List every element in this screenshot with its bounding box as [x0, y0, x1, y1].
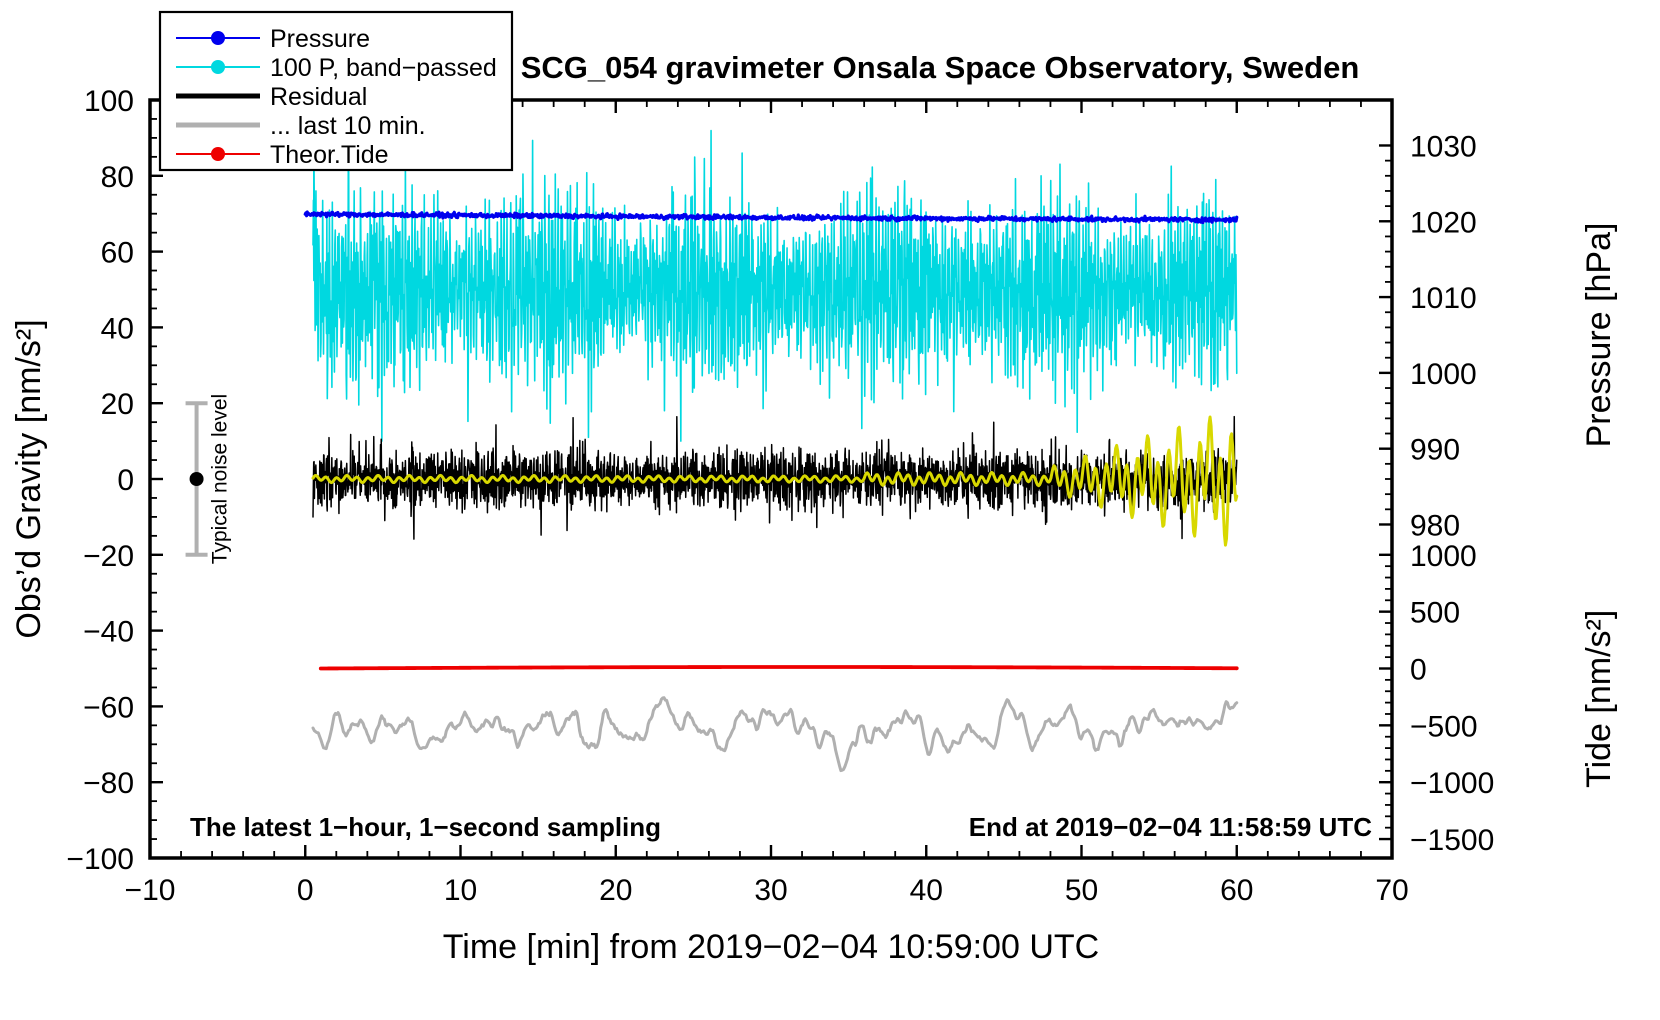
y-left-tick-label: −60 — [83, 691, 134, 724]
y-right-tide-axis-title: Tide [nm/s²] — [1580, 610, 1618, 788]
y-left-tick-label: 80 — [101, 161, 134, 194]
y-left-tick-label: 100 — [84, 85, 134, 118]
legend-item-label: Pressure — [270, 25, 370, 53]
x-axis-tick-label: 40 — [910, 874, 943, 907]
x-axis-tick-label: 20 — [599, 874, 632, 907]
y-left-tick-label: 40 — [101, 312, 134, 345]
y-right-tick-label: −1500 — [1410, 824, 1494, 857]
legend-swatch-marker — [211, 31, 225, 45]
x-axis-tick-label: 70 — [1375, 874, 1408, 907]
legend-item-label: Residual — [270, 83, 367, 111]
y-right-tick-label: 1020 — [1410, 206, 1477, 239]
y-right-tick-label: −500 — [1410, 710, 1478, 743]
y-left-tick-label: −20 — [83, 540, 134, 573]
y-left-tick-label: 0 — [117, 464, 134, 497]
y-right-tick-label: 500 — [1410, 597, 1460, 630]
y-right-tick-label: 1030 — [1410, 130, 1477, 163]
legend-swatch-marker — [211, 147, 225, 161]
x-axis-tick-label: −10 — [125, 874, 176, 907]
x-axis-title: Time [min] from 2019−02−04 10:59:00 UTC — [443, 928, 1099, 966]
y-right-tick-label: 0 — [1410, 654, 1427, 687]
y-right-tick-label: 990 — [1410, 434, 1460, 467]
end-time-note: End at 2019−02−04 11:58:59 UTC — [969, 812, 1372, 842]
y-left-tick-label: −40 — [83, 616, 134, 649]
gravimeter-chart: −10010203040506070100806040200−20−40−60−… — [0, 0, 1660, 1020]
y-right-pressure-axis-title: Pressure [hPa] — [1580, 223, 1618, 448]
y-left-axis-title: Obs’d Gravity [nm/s²] — [10, 319, 48, 638]
y-right-tick-label: 1000 — [1410, 358, 1477, 391]
y-right-tick-label: 1000 — [1410, 540, 1477, 573]
y-left-tick-label: 60 — [101, 237, 134, 270]
x-axis-tick-label: 30 — [754, 874, 787, 907]
y-right-tick-label: 1010 — [1410, 282, 1477, 315]
chart-page: −10010203040506070100806040200−20−40−60−… — [0, 0, 1660, 1020]
page-title: SCG_054 gravimeter Onsala Space Observat… — [521, 50, 1360, 85]
legend-item-label: ... last 10 min. — [270, 112, 426, 140]
y-right-tick-label: 980 — [1410, 509, 1460, 542]
sampling-note: The latest 1−hour, 1−second sampling — [190, 812, 661, 842]
legend-item-label: Theor.Tide — [270, 141, 389, 169]
x-axis-tick-label: 0 — [297, 874, 314, 907]
y-left-tick-label: 20 — [101, 388, 134, 421]
legend-item-label: 100 P, band−passed — [270, 54, 497, 82]
noise-center-dot — [190, 472, 204, 486]
legend-swatch-marker — [211, 60, 225, 74]
y-left-tick-label: −80 — [83, 767, 134, 800]
x-axis-tick-label: 10 — [444, 874, 477, 907]
x-axis-tick-label: 50 — [1065, 874, 1098, 907]
chart-legend[interactable]: Pressure100 P, band−passedResidual... la… — [160, 12, 512, 170]
y-right-tick-label: −1000 — [1410, 767, 1494, 800]
y-left-tick-label: −100 — [66, 843, 134, 876]
noise-level-label: Typical noise level — [209, 394, 232, 564]
x-axis-tick-label: 60 — [1220, 874, 1253, 907]
